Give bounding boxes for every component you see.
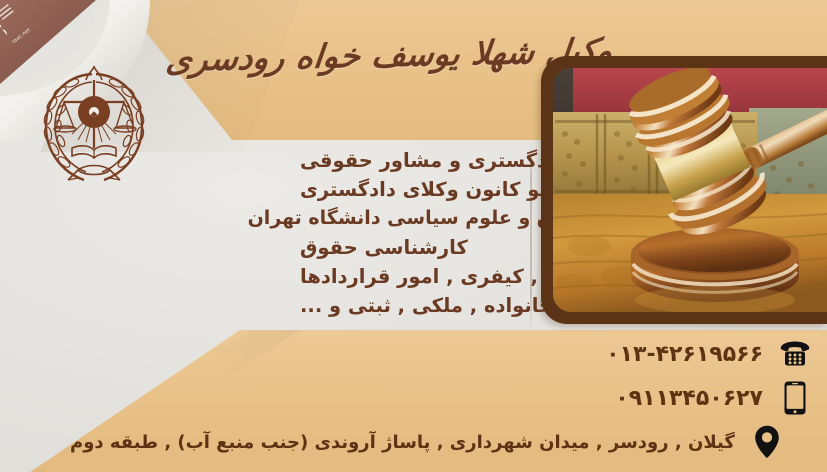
address-text: گیلان , رودسر , میدان شهرداری , پاساژ آر… bbox=[70, 432, 735, 453]
location-pin-icon bbox=[749, 424, 785, 460]
phone-number: ۰۱۳-۴۲۶۱۹۵۶۶ bbox=[606, 342, 763, 367]
gavel-photo bbox=[553, 68, 827, 312]
contact-row-address[interactable]: گیلان , رودسر , میدان شهرداری , پاساژ آر… bbox=[70, 424, 813, 460]
contact-row-phone[interactable]: ۰۱۳-۴۲۶۱۹۵۶۶ bbox=[606, 336, 813, 372]
gavel-photo-illustration bbox=[553, 68, 827, 312]
business-card: 118 ettelaat.net bbox=[0, 0, 827, 472]
mobile-phone-icon bbox=[777, 380, 813, 416]
mobile-number: ۰۹۱۱۳۴۵۰۶۲۷ bbox=[615, 386, 763, 411]
photo-frame bbox=[541, 56, 827, 324]
telephone-icon bbox=[777, 336, 813, 372]
contact-row-mobile[interactable]: ۰۹۱۱۳۴۵۰۶۲۷ bbox=[615, 380, 813, 416]
contact-block: ۰۱۳-۴۲۶۱۹۵۶۶ ۰۹۱۱۳۴۵۰۶۲۷ گیلان , رود bbox=[0, 330, 827, 472]
